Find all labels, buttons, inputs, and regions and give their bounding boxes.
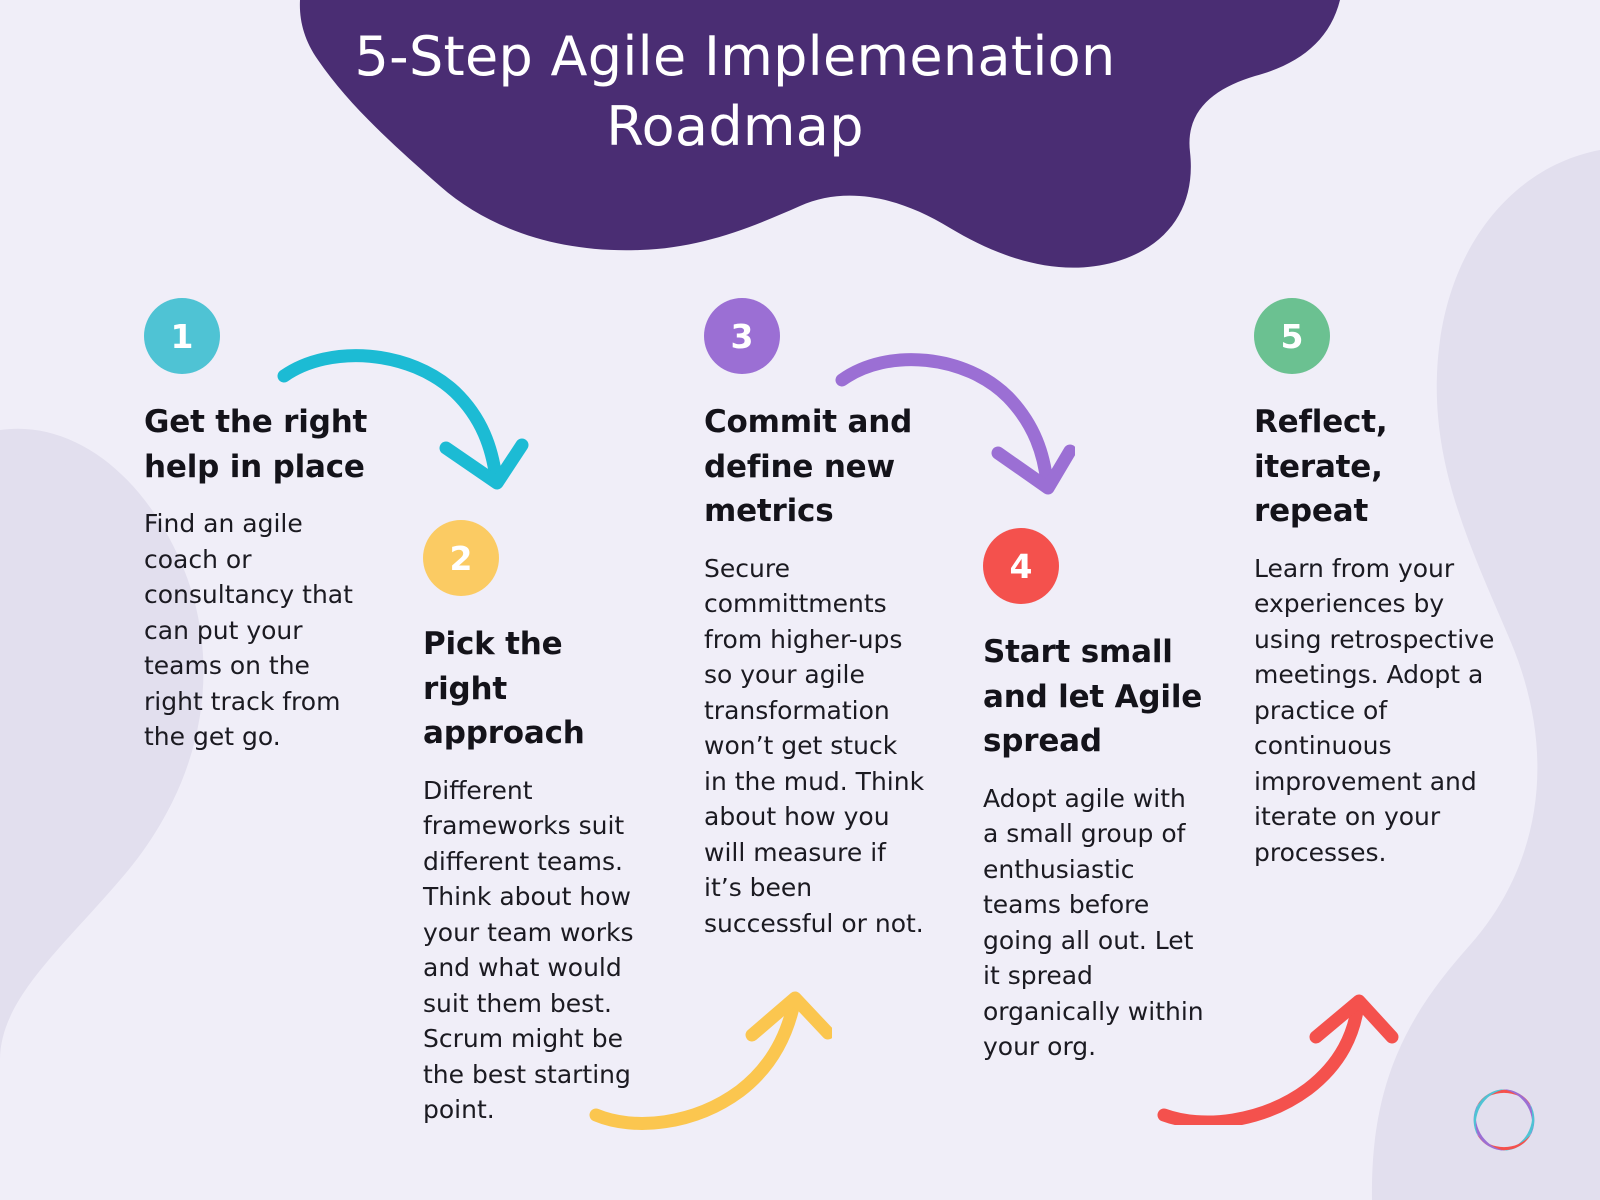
logo-petal-2	[1503, 1081, 1544, 1136]
logo-petal-6	[1464, 1081, 1505, 1136]
step-body-3: Secure committments from higher-ups so y…	[704, 551, 926, 942]
step-number-badge-2: 2	[423, 520, 499, 596]
step-number-2: 2	[450, 542, 473, 575]
step-number-badge-5: 5	[1254, 298, 1330, 374]
step-card-1: 1 Get the right help in place Find an ag…	[144, 298, 369, 755]
infographic-canvas: 5-Step Agile Implemenation Roadmap 1 Get…	[0, 0, 1600, 1200]
step-title-5: Reflect, iterate, repeat	[1254, 400, 1502, 534]
logo-petal-3	[1503, 1104, 1544, 1159]
step-title-3: Commit and define new metrics	[704, 400, 926, 534]
step-card-5: 5 Reflect, iterate, repeat Learn from yo…	[1254, 298, 1502, 870]
step-title-4: Start small and let Agile spread	[983, 630, 1205, 764]
logo-petal-5	[1464, 1104, 1505, 1159]
step-number-badge-3: 3	[704, 298, 780, 374]
step-body-2: Different frameworks suit different team…	[423, 773, 651, 1128]
step-body-1: Find an agile coach or consultancy that …	[144, 506, 369, 755]
step-card-4: 4 Start small and let Agile spread Adopt…	[983, 528, 1205, 1065]
step-number-5: 5	[1281, 320, 1304, 353]
page-title: 5-Step Agile Implemenation Roadmap	[330, 22, 1140, 162]
step-title-2: Pick the right approach	[423, 622, 651, 756]
step-title-1: Get the right help in place	[144, 400, 369, 489]
step-card-2: 2 Pick the right approach Different fram…	[423, 520, 651, 1128]
step-number-badge-1: 1	[144, 298, 220, 374]
step-body-4: Adopt agile with a small group of enthus…	[983, 781, 1205, 1065]
step-number-4: 4	[1010, 550, 1033, 583]
step-number-badge-4: 4	[983, 528, 1059, 604]
step-number-1: 1	[171, 320, 194, 353]
step-body-5: Learn from your experiences by using ret…	[1254, 551, 1502, 871]
step-number-3: 3	[731, 320, 754, 353]
pinwheel-logo	[1452, 1068, 1556, 1172]
step-card-3: 3 Commit and define new metrics Secure c…	[704, 298, 926, 941]
